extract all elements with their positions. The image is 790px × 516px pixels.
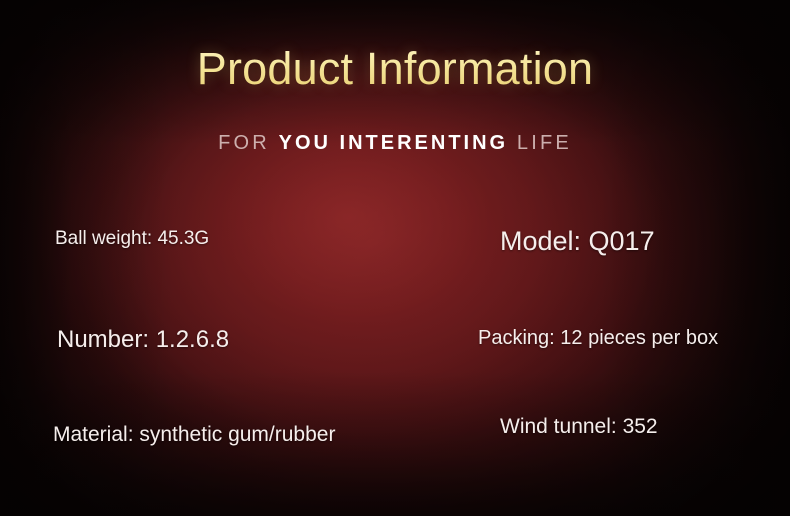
page-subtitle: FOR YOU INTERENTING LIFE <box>0 131 790 155</box>
spec-model: Model: Q017 <box>500 226 655 257</box>
subtitle-emphasis: YOU INTERENTING <box>279 132 508 154</box>
product-information-banner: Product Information FOR YOU INTERENTING … <box>0 0 790 516</box>
subtitle-trail: LIFE <box>508 132 572 154</box>
spec-material: Material: synthetic gum/rubber <box>53 423 335 447</box>
spec-packing: Packing: 12 pieces per box <box>478 327 718 350</box>
spec-ball-weight: Ball weight: 45.3G <box>55 228 209 250</box>
spec-wind-tunnel: Wind tunnel: 352 <box>500 415 680 439</box>
subtitle-lead: FOR <box>218 132 279 154</box>
page-title: Product Information <box>0 44 790 94</box>
spec-number: Number: 1.2.6.8 <box>57 326 229 354</box>
